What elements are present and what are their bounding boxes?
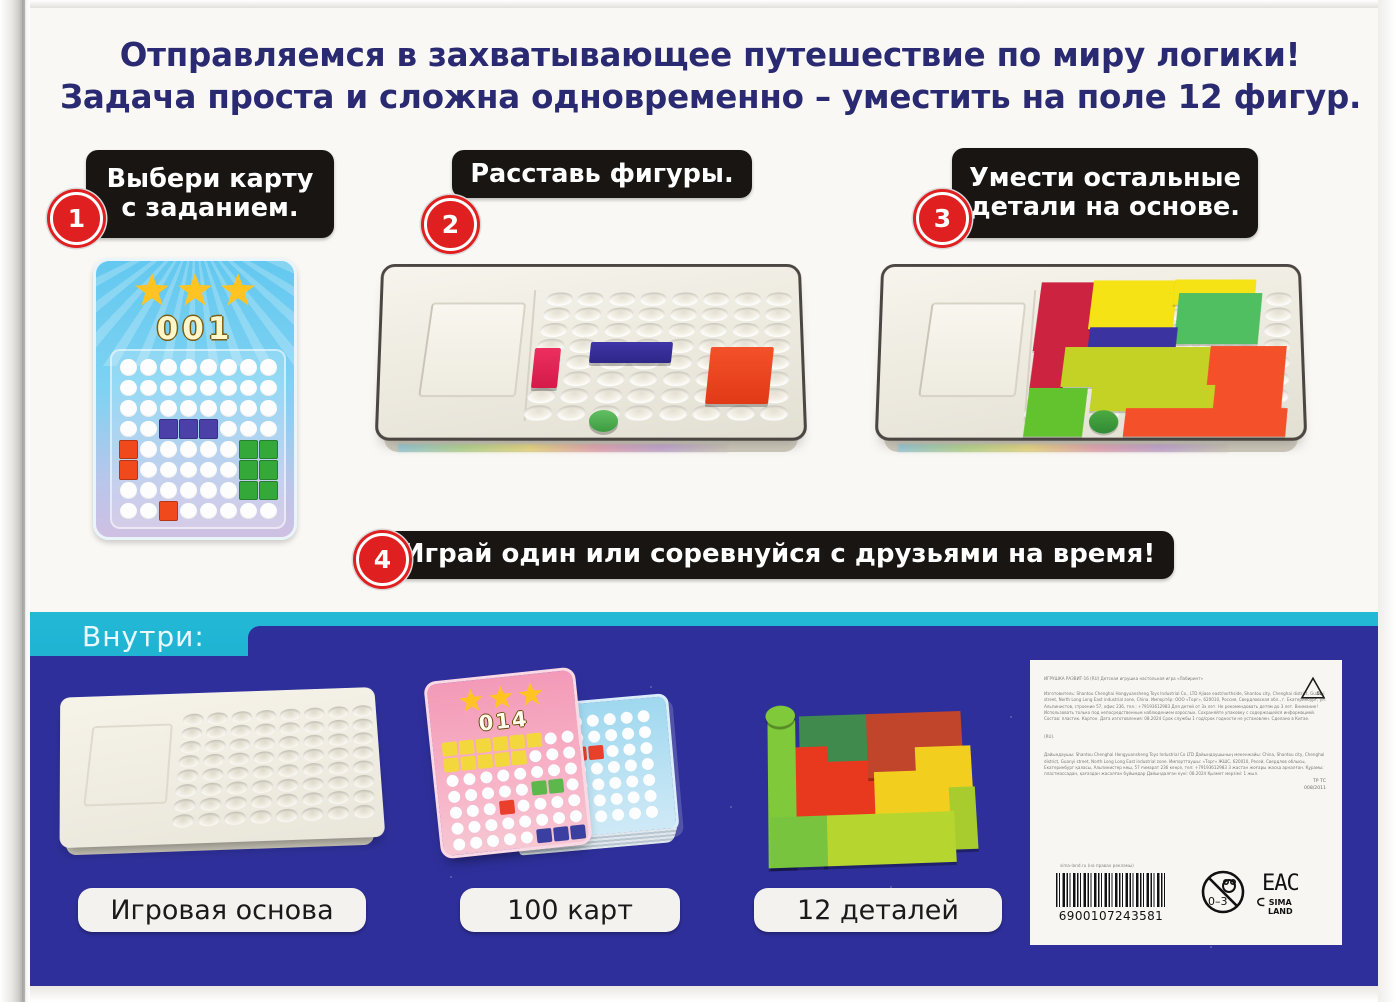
headline-line-2: Задача проста и сложна одновременно – ум…	[60, 76, 1360, 118]
cards-photo: 014	[430, 668, 700, 868]
board-stud	[224, 811, 247, 825]
board-stud	[635, 323, 663, 336]
sima-land-line-2: LAND	[1268, 908, 1293, 917]
grid-empty-cell	[609, 776, 622, 789]
board-stud	[733, 307, 760, 320]
board-stud	[726, 405, 755, 419]
grid-empty-cell	[160, 400, 177, 417]
grid-empty-cell	[485, 818, 499, 832]
board-card-slot	[418, 303, 526, 398]
tr-code-line-1: ТР ТС	[1304, 778, 1326, 785]
grid-empty-cell	[260, 503, 277, 520]
board-edge-reflection	[398, 444, 728, 452]
star-icon	[488, 684, 514, 710]
grid-empty-cell	[546, 747, 560, 761]
piece-lime-bottom	[823, 811, 957, 866]
grid-empty-cell	[240, 380, 257, 397]
grid-empty-cell	[140, 380, 157, 397]
grid-empty-cell	[200, 400, 217, 417]
grid-empty-cell	[463, 772, 477, 786]
puzzle-piece-blue-bar	[1088, 327, 1178, 347]
grid-piece-cell	[119, 440, 138, 460]
grid-empty-cell	[498, 785, 512, 799]
grid-piece-cell	[475, 738, 491, 753]
board-edge-reflection	[898, 444, 1228, 452]
grid-empty-cell	[200, 462, 217, 479]
grid-empty-cell	[590, 762, 603, 775]
grid-empty-cell	[120, 359, 137, 376]
grid-empty-cell	[180, 462, 197, 479]
grid-empty-cell	[544, 732, 558, 746]
board-stud	[608, 292, 636, 304]
board-stud	[624, 405, 654, 419]
board-stud	[328, 747, 349, 760]
step-2-number-badge: 2	[424, 198, 477, 251]
grid-empty-cell	[520, 831, 534, 845]
board-stud	[328, 706, 348, 718]
grid-empty-cell	[626, 775, 639, 788]
board-stud	[250, 795, 272, 809]
board-stud	[765, 307, 792, 320]
grid-empty-cell	[260, 400, 277, 417]
box-bottom-edge	[30, 986, 1386, 1002]
grid-empty-cell	[160, 482, 177, 499]
board-stud	[766, 292, 793, 304]
box-top-edge	[30, 0, 1386, 8]
board-stud	[231, 711, 252, 723]
board-stud	[328, 791, 350, 805]
headline-line-1: Отправляемся в захватывающее путешествие…	[60, 34, 1360, 76]
board-stud	[522, 405, 553, 419]
step-4-text-line-1: Играй один или соревнуйся с друзьями на …	[403, 540, 1156, 569]
step-3-callout: Умести остальные детали на основе.	[952, 148, 1258, 238]
board-stud	[353, 789, 375, 803]
grid-empty-cell	[622, 727, 635, 740]
grid-piece-cell	[531, 780, 547, 795]
age-warning-icon: 0–3	[1200, 869, 1246, 915]
grid-empty-cell	[486, 834, 500, 848]
board-stud	[207, 712, 228, 724]
board-stud	[660, 388, 689, 402]
board-card-slot	[918, 303, 1026, 398]
puzzle-piece-lime-bar	[1060, 347, 1213, 387]
grid-empty-cell	[220, 380, 237, 397]
star-icon	[178, 273, 212, 307]
grid-empty-cell	[220, 400, 237, 417]
panel-speck	[730, 806, 732, 808]
grid-empty-cell	[595, 810, 608, 823]
puzzle-piece-green-dot	[1089, 410, 1118, 433]
grid-empty-cell	[469, 836, 483, 850]
board-stud	[352, 718, 373, 730]
board-stud	[571, 323, 600, 336]
board-stud	[606, 307, 634, 320]
board-stud	[252, 765, 274, 778]
grid-empty-cell	[535, 813, 549, 827]
board-stud	[526, 388, 556, 402]
board-stud	[173, 799, 196, 813]
grid-empty-cell	[446, 774, 460, 788]
grid-empty-cell	[645, 805, 658, 818]
board-stud	[671, 292, 698, 304]
grid-empty-cell	[480, 771, 494, 785]
grid-empty-cell	[140, 441, 157, 458]
grid-empty-cell	[200, 359, 217, 376]
grid-empty-cell	[588, 730, 601, 743]
board-stud	[626, 388, 656, 402]
board-stud	[327, 806, 349, 820]
grid-empty-cell	[140, 482, 157, 499]
grid-empty-cell	[240, 400, 257, 417]
board-stud	[638, 307, 666, 320]
board-stud	[669, 307, 697, 320]
grid-piece-cell	[460, 755, 476, 770]
board-stud	[545, 292, 573, 304]
grid-empty-cell	[501, 816, 515, 830]
board-stud	[352, 705, 372, 717]
grid-empty-cell	[240, 359, 257, 376]
card-puzzle-grid	[118, 357, 278, 521]
grid-piece-cell	[239, 481, 258, 501]
piece-green-dot	[589, 410, 618, 432]
inside-item-label-game-base: Игровая основа	[78, 888, 366, 932]
grid-empty-cell	[140, 400, 157, 417]
piece-pink	[531, 348, 561, 388]
grid-piece-cell	[570, 824, 586, 839]
grid-empty-cell	[240, 421, 257, 438]
grid-piece-cell	[443, 757, 459, 772]
sima-land-logo: SIMA LAND	[1256, 897, 1293, 916]
board-stud	[279, 736, 300, 749]
grid-empty-cell	[200, 482, 217, 499]
grid-empty-cell	[515, 783, 529, 797]
grid-empty-cell	[496, 769, 510, 783]
board-stud	[279, 722, 300, 734]
grid-empty-cell	[160, 462, 177, 479]
board-stud	[353, 746, 374, 759]
product-box-back-panel: Отправляемся в захватывающее путешествие…	[0, 0, 1396, 1002]
barcode-bars	[1056, 873, 1166, 907]
grid-empty-cell	[260, 380, 277, 397]
board-stud	[277, 764, 298, 777]
grid-empty-cell	[603, 713, 616, 726]
grid-empty-cell	[466, 804, 480, 818]
board-stud	[353, 760, 374, 773]
grid-empty-cell	[627, 791, 640, 804]
grid-empty-cell	[552, 811, 566, 825]
board-stud	[176, 769, 198, 782]
star-icon	[518, 681, 544, 707]
grid-piece-cell	[119, 460, 138, 480]
grid-empty-cell	[606, 745, 619, 758]
panel-speck	[1010, 716, 1012, 718]
grid-empty-cell	[220, 462, 237, 479]
grid-empty-cell	[534, 797, 548, 811]
board-stud	[593, 388, 623, 402]
board-stud	[302, 807, 324, 821]
grid-empty-cell	[566, 778, 580, 792]
svg-text:EAC: EAC	[1262, 871, 1299, 895]
board-stud	[180, 741, 202, 754]
board-stud	[562, 371, 592, 385]
grid-empty-cell	[180, 482, 197, 499]
step-1-callout: Выбери карту с заданием.	[86, 150, 334, 238]
box-spine-crease	[22, 0, 25, 1002]
grid-empty-cell	[593, 794, 606, 807]
step-3-text-line-1: Умести остальные	[969, 164, 1241, 193]
step-1-text-line-2: с заданием.	[107, 194, 314, 223]
board-stud	[276, 808, 298, 822]
grid-empty-cell	[513, 767, 527, 781]
piece-orange-square	[705, 347, 774, 404]
grid-empty-cell	[644, 789, 657, 802]
board-stud	[640, 292, 668, 304]
board-stud	[303, 748, 324, 761]
grid-empty-cell	[561, 730, 575, 744]
grid-empty-cell	[481, 786, 495, 800]
grid-piece-cell	[458, 739, 474, 754]
card-grid-frame	[110, 349, 286, 529]
grid-piece-cell	[526, 732, 542, 747]
board-stud	[198, 812, 221, 826]
piece-blue-bar	[589, 342, 673, 363]
step-1-text-line-1: Выбери карту	[107, 165, 314, 194]
grid-empty-cell	[120, 380, 137, 397]
board-stud	[542, 307, 571, 320]
grid-empty-cell	[518, 815, 532, 829]
board-stud	[700, 323, 728, 336]
grid-empty-cell	[483, 802, 497, 816]
board-stud	[662, 371, 691, 385]
board-stud	[353, 732, 374, 745]
grid-empty-cell	[503, 832, 517, 846]
grid-empty-cell	[220, 503, 237, 520]
card-puzzle-grid	[440, 728, 587, 854]
grid-piece-cell	[259, 440, 278, 460]
board-stud	[303, 734, 324, 747]
board-stud	[303, 763, 324, 776]
inside-item-label-pieces: 12 деталей	[754, 888, 1002, 932]
step-2-callout: Расставь фигуры.	[452, 150, 752, 198]
grid-empty-cell	[468, 820, 482, 834]
card-star-rating	[96, 273, 294, 307]
sima-land-line-1: SIMA	[1269, 898, 1292, 907]
grid-piece-cell	[588, 745, 604, 760]
board-stud	[559, 388, 589, 402]
game-board-photo-step-2	[378, 262, 804, 468]
grid-piece-cell	[509, 734, 525, 749]
grid-empty-cell	[447, 790, 461, 804]
board-stud	[178, 755, 200, 768]
grid-piece-cell	[159, 501, 178, 521]
board-stud	[229, 738, 250, 751]
info-paragraph-ru: Изготовитель: Shantou Chenghai Hongyuans…	[1044, 691, 1328, 722]
grid-piece-cell	[442, 741, 458, 756]
puzzle-piece-orange-bar	[1123, 408, 1288, 436]
board-stud	[658, 405, 688, 419]
board-stud	[328, 719, 349, 731]
barcode-note: sima-land.ru (на правах рекламы)	[1060, 863, 1134, 868]
board-stud	[701, 307, 728, 320]
board-stud	[353, 774, 374, 787]
board-stud	[539, 323, 568, 336]
step-2-text-line-1: Расставь фигуры.	[470, 160, 733, 189]
board-stud	[228, 752, 250, 765]
barcode-number: 6900107243581	[1056, 909, 1166, 923]
board-stud	[278, 750, 299, 763]
grid-empty-cell	[605, 729, 618, 742]
board-stud	[226, 781, 248, 794]
board-stud	[304, 721, 325, 733]
grid-empty-cell	[260, 421, 277, 438]
board-stud	[182, 713, 203, 725]
board-stud	[253, 751, 274, 764]
board-stud	[230, 724, 251, 736]
grid-piece-cell	[548, 778, 564, 793]
age-warning-text: 0–3	[1208, 895, 1228, 908]
grid-empty-cell	[220, 359, 237, 376]
board-stud	[227, 766, 249, 779]
board-stud	[760, 405, 789, 419]
info-paragraph-kz: Дайындаушы: Shantou Chenghai Hongyuanshe…	[1044, 752, 1328, 777]
grid-piece-cell	[199, 419, 218, 439]
board-stud	[206, 726, 227, 739]
panel-speck	[1210, 946, 1212, 948]
pieces-photo	[760, 690, 1000, 870]
board-stud	[353, 804, 375, 818]
base-card-slot	[83, 724, 173, 807]
board-stud	[251, 780, 273, 793]
step-4-number-badge: 4	[356, 533, 409, 586]
grid-empty-cell	[180, 441, 197, 458]
game-board-photo-step-3	[878, 262, 1304, 468]
grid-empty-cell	[120, 482, 137, 499]
grid-piece-cell	[494, 752, 510, 767]
grid-empty-cell	[160, 380, 177, 397]
grid-empty-cell	[220, 421, 237, 438]
puzzle-piece-green	[1174, 293, 1263, 344]
board-stud	[1266, 292, 1293, 304]
grid-empty-cell	[451, 822, 465, 836]
grid-empty-cell	[449, 806, 463, 820]
board-stud	[596, 371, 625, 385]
grid-empty-cell	[529, 749, 543, 763]
task-card-illustration: 001	[93, 258, 297, 540]
board-stud	[556, 405, 586, 419]
grid-piece-cell	[536, 828, 552, 843]
grid-empty-cell	[620, 711, 633, 724]
grid-empty-cell	[140, 503, 157, 520]
board-stud	[202, 768, 224, 781]
grid-empty-cell	[140, 421, 157, 438]
card-number: 001	[96, 311, 294, 347]
puzzle-piece-green-block	[1023, 388, 1088, 437]
board-stud	[280, 708, 301, 720]
board-stud	[203, 753, 225, 766]
game-base-photo	[60, 690, 390, 870]
grid-empty-cell	[567, 793, 581, 807]
info-mark: (RU).	[1044, 734, 1328, 740]
grid-empty-cell	[120, 421, 137, 438]
board-stud	[204, 739, 226, 752]
board-stud	[254, 737, 275, 750]
headline: Отправляемся в захватывающее путешествие…	[60, 34, 1360, 118]
panel-speck	[450, 876, 452, 878]
grid-piece-cell	[179, 419, 198, 439]
grid-empty-cell	[629, 807, 642, 820]
grid-empty-cell	[220, 482, 237, 499]
board-stud	[328, 761, 349, 774]
board-stud	[255, 723, 276, 735]
puzzle-piece-yellow-large	[1088, 280, 1178, 329]
board-stud	[175, 784, 198, 798]
grid-piece-cell	[511, 750, 527, 765]
grid-empty-cell	[607, 760, 620, 773]
board-stud	[668, 323, 696, 336]
board-stud	[577, 292, 605, 304]
grid-empty-cell	[586, 714, 599, 727]
board-stud	[764, 323, 791, 336]
board-stud	[574, 307, 602, 320]
board-stud	[225, 796, 247, 810]
grid-empty-cell	[464, 788, 478, 802]
star-icon	[135, 273, 169, 307]
grid-empty-cell	[551, 795, 565, 809]
board-stud	[255, 710, 276, 722]
grid-empty-cell	[569, 809, 583, 823]
barcode-row: sima-land.ru (на правах рекламы) 6900107…	[1030, 863, 1342, 935]
grid-empty-cell	[120, 400, 137, 417]
grid-empty-cell	[638, 726, 651, 739]
grid-piece-cell	[553, 826, 569, 841]
board-stud	[1265, 307, 1292, 320]
step-3-number-badge: 3	[916, 192, 969, 245]
grid-empty-cell	[200, 380, 217, 397]
info-title-line: ИГРУШКА РАЗВИТ-16 (RU) Детская игрушка н…	[1044, 676, 1328, 682]
grid-empty-cell	[200, 441, 217, 458]
board-stud	[250, 810, 272, 824]
star-icon	[458, 687, 484, 713]
grid-empty-cell	[517, 799, 531, 813]
grid-piece-cell	[259, 481, 278, 501]
board-stud	[328, 733, 349, 746]
board-stud	[603, 323, 632, 336]
tr-code: ТР ТС 008/2011	[1304, 778, 1326, 792]
grid-piece-cell	[499, 800, 515, 815]
grid-piece-cell	[239, 440, 258, 460]
box-right-edge	[1378, 0, 1396, 1002]
sima-land-swirl-icon	[1256, 897, 1266, 907]
inside-heading: Внутри:	[82, 620, 205, 653]
inside-section-header-bar: Внутри:	[30, 612, 1378, 662]
grid-piece-cell	[492, 736, 508, 751]
step-3-text-line-2: детали на основе.	[969, 193, 1241, 222]
board-stud	[276, 793, 298, 807]
eac-icon: EAC	[1262, 869, 1302, 895]
board-stud	[703, 292, 730, 304]
box-spine-edge	[0, 0, 30, 1002]
inside-item-label-cards: 100 карт	[460, 888, 680, 932]
grid-empty-cell	[220, 441, 237, 458]
grid-empty-cell	[641, 758, 654, 771]
board-stud	[734, 292, 761, 304]
board-stud	[304, 707, 324, 719]
grid-empty-cell	[120, 503, 137, 520]
grid-empty-cell	[140, 359, 157, 376]
grid-piece-cell	[159, 419, 178, 439]
grid-empty-cell	[260, 359, 277, 376]
base-surface	[60, 687, 386, 848]
